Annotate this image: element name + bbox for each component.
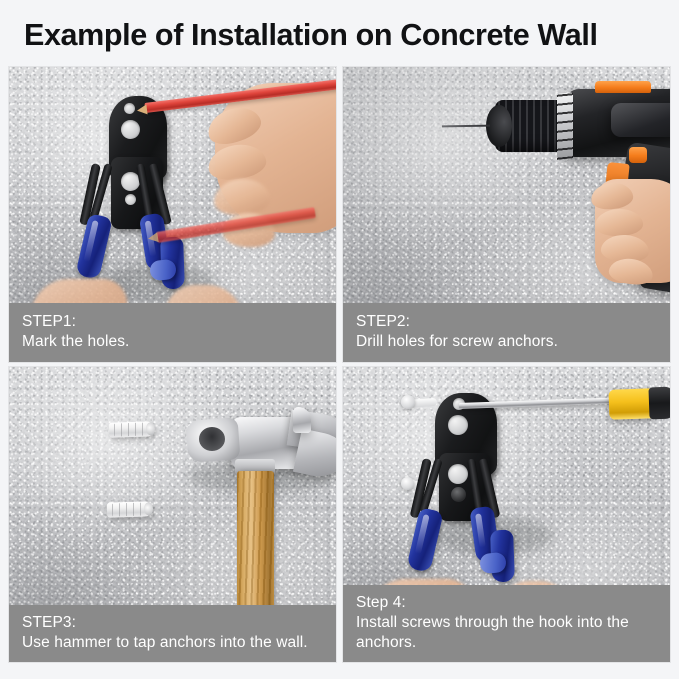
- hook-screw-hole-3: [448, 464, 468, 484]
- hook-screw-hole-1: [124, 103, 135, 114]
- drill-top-badge: [595, 81, 651, 93]
- step-1-label: STEP1:: [22, 312, 323, 332]
- installation-guide-page: Example of Installation on Concrete Wall: [0, 0, 679, 679]
- step-4-instruction: Install screws through the hook into the…: [356, 613, 657, 653]
- hook-screw-installed: [451, 487, 466, 502]
- step-2-caption: STEP2: Drill holes for screw anchors.: [343, 303, 670, 362]
- hook-screw-hole-4: [125, 194, 136, 205]
- step-panel-3: STEP3: Use hammer to tap anchors into th…: [8, 366, 337, 663]
- step-4-label: Step 4:: [356, 593, 657, 613]
- pencil-upper-tip-wood: [136, 104, 147, 115]
- step-2-instruction: Drill holes for screw anchors.: [356, 332, 657, 352]
- drill-clutch-collar: [557, 92, 573, 160]
- step-panel-1: STEP1: Mark the holes.: [8, 66, 337, 363]
- step-1-instruction: Mark the holes.: [22, 332, 323, 352]
- step-panel-4: Step 4: Install screws through the hook …: [342, 366, 671, 663]
- hook-tip-left-highlight: [415, 514, 430, 554]
- wall-anchor-upper: [109, 421, 154, 438]
- hammer-face-bevel: [199, 427, 225, 451]
- step-3-caption: STEP3: Use hammer to tap anchors into th…: [9, 605, 336, 662]
- hook-screw-hole-2: [448, 415, 468, 435]
- wall-anchor-upper-ribs: [114, 423, 144, 437]
- hook-tip-right-highlight: [475, 513, 486, 548]
- screw-head-lower: [401, 477, 414, 490]
- drill-clutch-markings: [557, 92, 573, 160]
- screwdriver-grip: [648, 387, 670, 420]
- wall-anchor-lower: [107, 501, 152, 518]
- step-2-label: STEP2:: [356, 312, 657, 332]
- hammer-claw-neck: [293, 407, 311, 433]
- page-title: Example of Installation on Concrete Wall: [24, 14, 648, 56]
- screw-head-upper: [401, 395, 415, 409]
- drill-body-panel: [611, 103, 670, 137]
- step-panel-2: STEP2: Drill holes for screw anchors.: [342, 66, 671, 363]
- step-3-label: STEP3:: [22, 613, 323, 633]
- hook-tip-left-highlight: [83, 220, 98, 262]
- step-4-caption: Step 4: Install screws through the hook …: [343, 585, 670, 662]
- drill-speed-switch: [629, 147, 647, 163]
- hook-screw-hole-2: [121, 120, 140, 139]
- step-1-caption: STEP1: Mark the holes.: [9, 303, 336, 362]
- screwdriver-handle: [608, 388, 653, 420]
- wall-anchor-lower-ribs: [112, 503, 142, 517]
- pencil-lower-tip-wood: [147, 232, 158, 243]
- step-3-instruction: Use hammer to tap anchors into the wall.: [22, 633, 323, 653]
- steps-grid: STEP1: Mark the holes.: [8, 66, 671, 663]
